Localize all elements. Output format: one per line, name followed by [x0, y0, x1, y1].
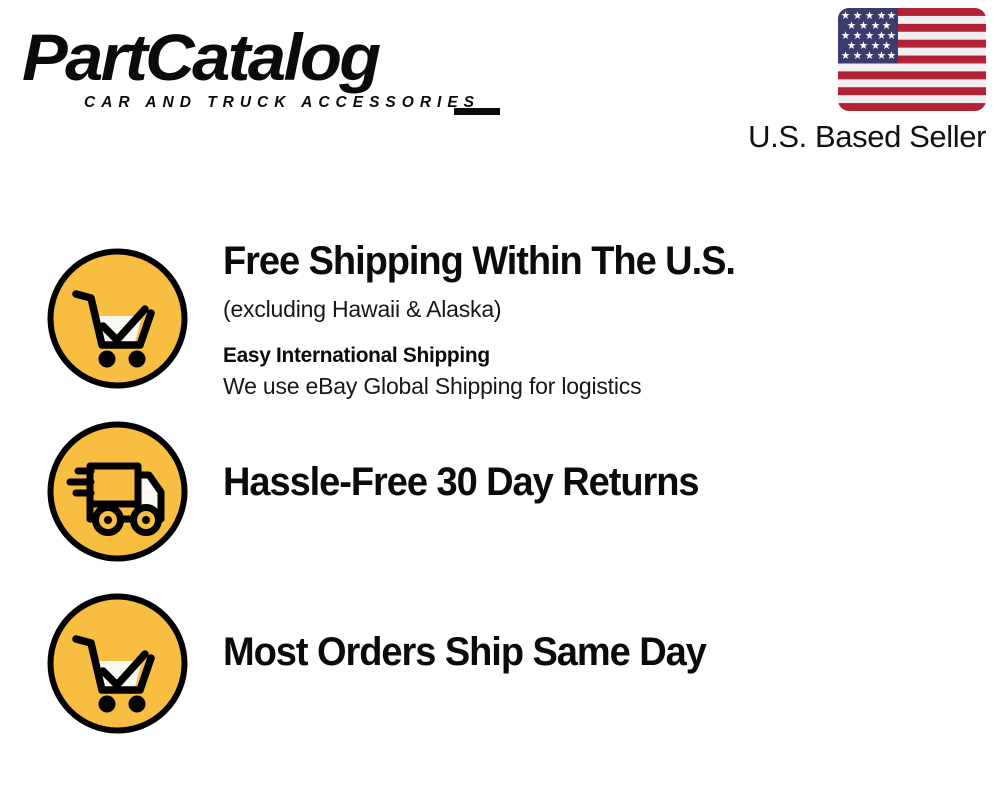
feature-title: Hassle-Free 30 Day Returns: [223, 459, 961, 505]
brand-tagline: CAR AND TRUCK ACCESSORIES: [84, 94, 480, 112]
delivery-truck-icon: [45, 419, 190, 564]
feature-text-free-shipping: Free Shipping Within The U.S. (excluding…: [223, 238, 1000, 401]
brand-underline-accent: [454, 108, 500, 115]
feature-title: Most Orders Ship Same Day: [223, 629, 961, 675]
feature-note-ebay-global-shipping: We use eBay Global Shipping for logistic…: [223, 371, 1000, 401]
feature-subtitle: (excluding Hawaii & Alaska): [223, 294, 1000, 325]
banner-header: PartCatalog CAR AND TRUCK ACCESSORIES: [0, 0, 1000, 170]
shopping-cart-check-icon: [45, 246, 190, 391]
feature-text-returns: Hassle-Free 30 Day Returns: [223, 413, 1000, 505]
partcatalog-logo: PartCatalog CAR AND TRUCK ACCESSORIES: [22, 24, 492, 114]
us-flag-icon: [838, 8, 986, 111]
feature-subheading-international-shipping: Easy International Shipping: [223, 341, 977, 369]
us-based-seller-badge: U.S. Based Seller: [726, 8, 986, 155]
us-based-seller-label: U.S. Based Seller: [726, 119, 986, 155]
feature-list: Free Shipping Within The U.S. (excluding…: [0, 238, 1000, 735]
promo-banner: PartCatalog CAR AND TRUCK ACCESSORIES: [0, 0, 1000, 800]
feature-row-same-day-shipping: Most Orders Ship Same Day: [0, 585, 1000, 735]
shopping-cart-check-icon: [45, 591, 190, 736]
feature-row-returns: Hassle-Free 30 Day Returns: [0, 413, 1000, 585]
feature-row-free-shipping: Free Shipping Within The U.S. (excluding…: [0, 238, 1000, 413]
feature-text-same-day-shipping: Most Orders Ship Same Day: [223, 585, 1000, 675]
brand-wordmark: PartCatalog: [22, 24, 511, 90]
feature-title: Free Shipping Within The U.S.: [223, 238, 961, 284]
